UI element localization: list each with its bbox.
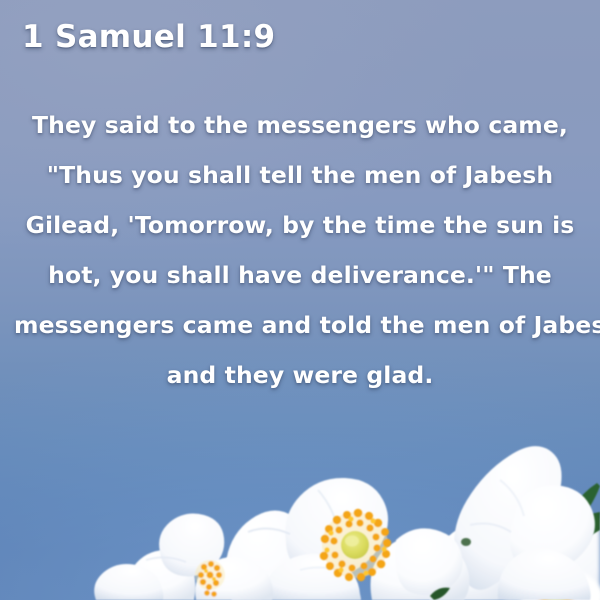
- verse-line: and they were glad.: [14, 350, 586, 400]
- verse-image-card: 1 Samuel 11:9 They said to the messenger…: [0, 0, 600, 600]
- verse-text-block: They said to the messengers who came, "T…: [14, 100, 586, 400]
- verse-line: messengers came and told the men of Jabe…: [14, 300, 586, 350]
- verse-line: They said to the messengers who came,: [14, 100, 586, 150]
- verse-line: Gilead, 'Tomorrow, by the time the sun i…: [14, 200, 586, 250]
- verse-reference-title: 1 Samuel 11:9: [22, 19, 275, 55]
- verse-line: "Thus you shall tell the men of Jabesh: [14, 150, 586, 200]
- verse-line: hot, you shall have deliverance.'" The: [14, 250, 586, 300]
